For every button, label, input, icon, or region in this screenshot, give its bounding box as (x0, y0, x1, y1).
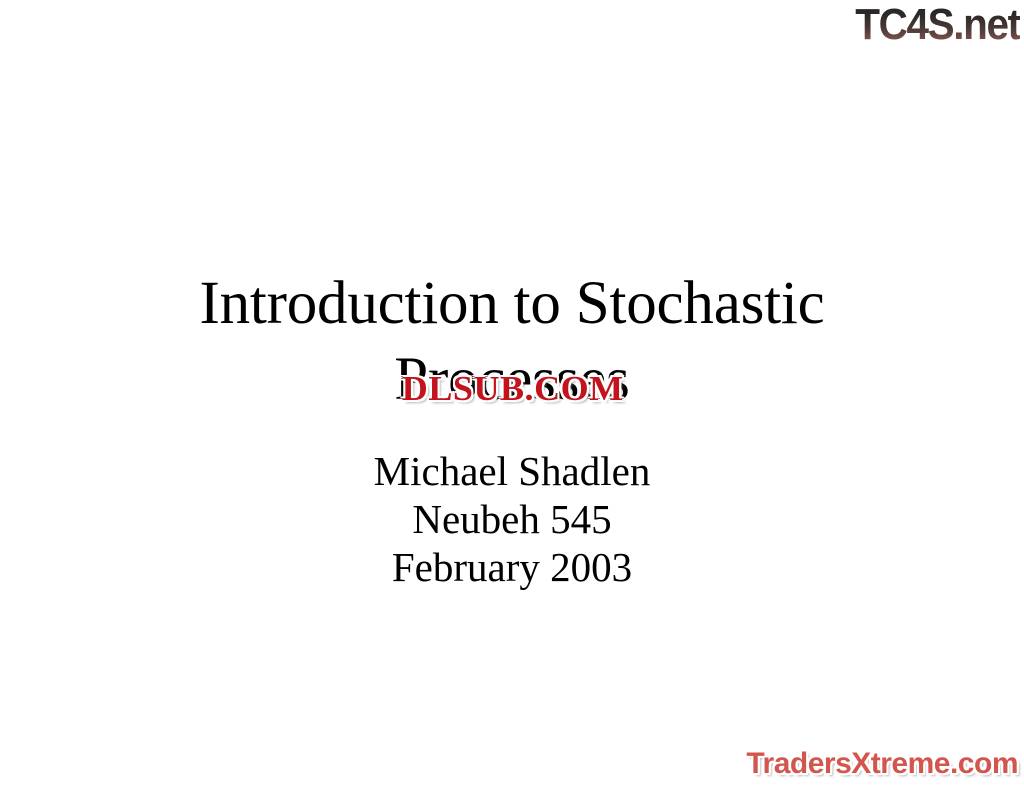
subtitle-course: Neubeh 545 (0, 495, 1024, 543)
dlsub-watermark-label: DLSUB.COM (402, 371, 624, 407)
subtitle-author: Michael Shadlen (0, 447, 1024, 495)
tradersxtreme-watermark-label: TradersXtreme.com (746, 747, 1018, 780)
subtitle-date: February 2003 (0, 543, 1024, 591)
title-line-1: Introduction to Stochastic (0, 266, 1024, 342)
presentation-slide: TC4S.net Introduction to Stochastic Proc… (0, 0, 1024, 791)
subtitle-block: Michael Shadlen Neubeh 545 February 2003 (0, 447, 1024, 591)
dlsub-watermark: DLSUB.COM (369, 369, 657, 409)
tc4s-logo: TC4S.net (856, 2, 1020, 48)
tradersxtreme-watermark: TradersXtreme.com (746, 748, 1018, 780)
